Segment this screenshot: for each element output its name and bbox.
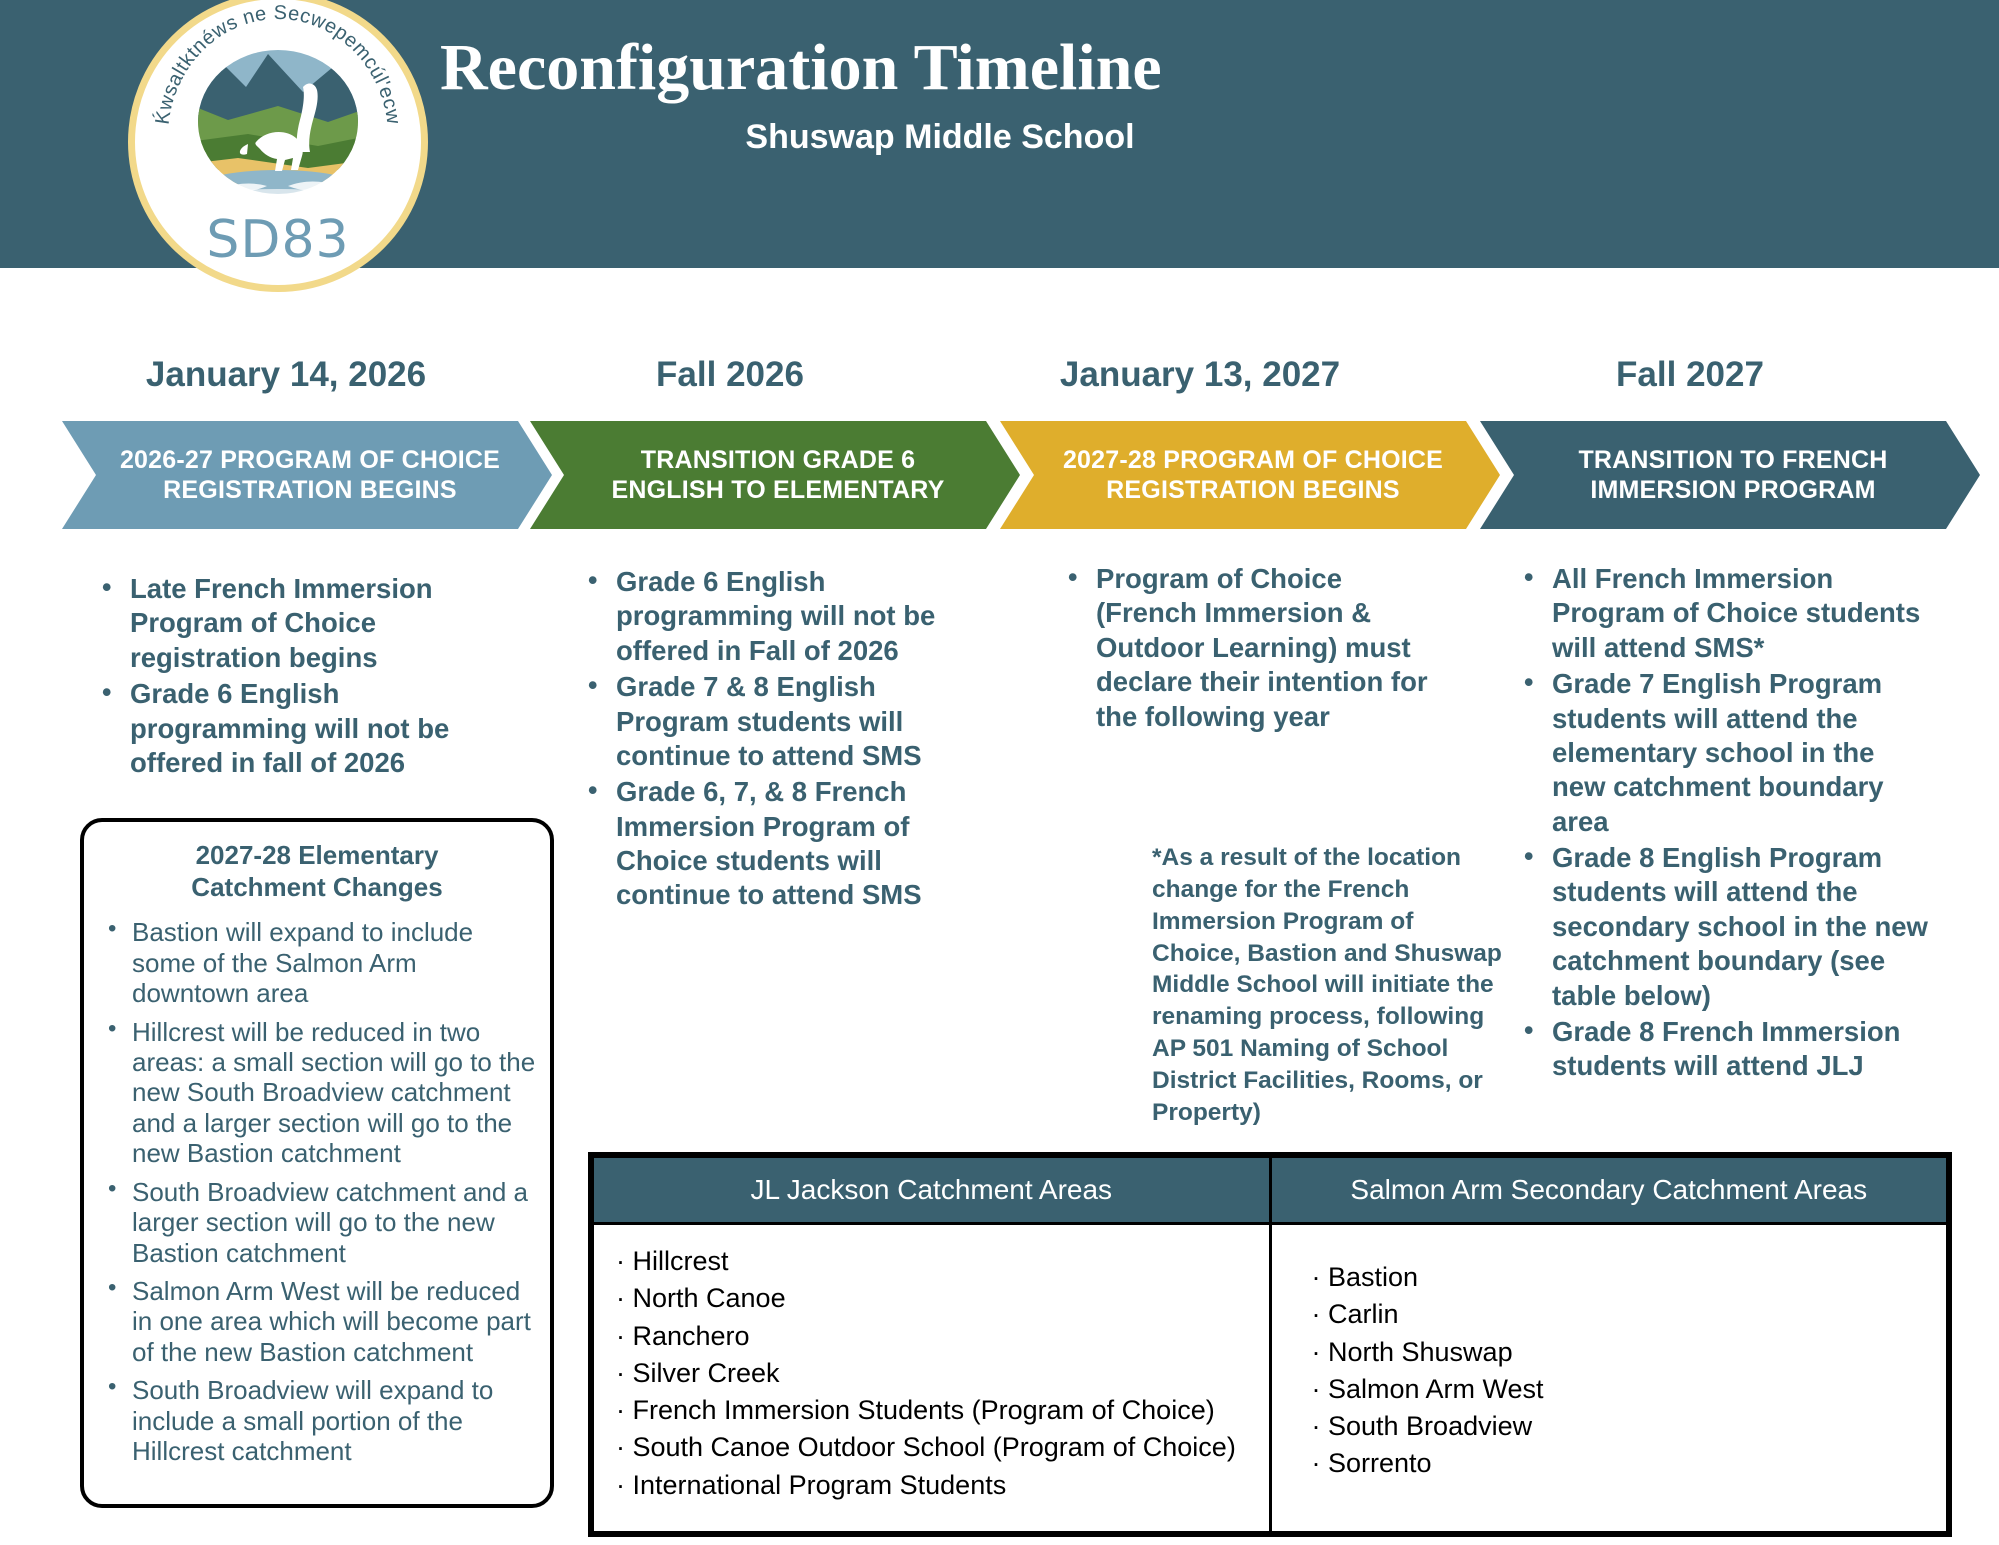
list-item: Bastion will expand to include some of t… bbox=[98, 917, 536, 1008]
list-item: South Broadview will expand to include a… bbox=[98, 1375, 536, 1466]
list-item: · North Canoe bbox=[616, 1280, 1247, 1317]
timeline-banner-1: 2026-27 PROGRAM OF CHOICE REGISTRATION B… bbox=[62, 421, 552, 529]
catchment-changes-box: 2027-28 Elementary Catchment Changes Bas… bbox=[80, 818, 554, 1508]
banner-4-line2: IMMERSION PROGRAM bbox=[1578, 475, 1887, 506]
timeline-date-2: Fall 2026 bbox=[540, 355, 920, 395]
banner-1-line2: REGISTRATION BEGINS bbox=[120, 475, 500, 506]
list-item: Late French Immersion Program of Choice … bbox=[96, 572, 476, 675]
catchment-box-title: 2027-28 Elementary Catchment Changes bbox=[98, 840, 536, 903]
list-item: Grade 7 English Program students will at… bbox=[1518, 667, 1928, 839]
table-cell-salmon-arm: · Bastion · Carlin · North Shuswap · Sal… bbox=[1270, 1224, 1948, 1533]
banner-2-line2: ENGLISH TO ELEMENTARY bbox=[612, 475, 945, 506]
sd83-logo: Ḱwsaltktnéws ne Secwepemcúl'ecw SD83 bbox=[128, 0, 428, 292]
logo-district-code: SD83 bbox=[128, 210, 428, 270]
banner-3-line1: 2027-28 PROGRAM OF CHOICE bbox=[1063, 445, 1443, 476]
catchment-box-title-line1: 2027-28 Elementary bbox=[98, 840, 536, 872]
list-item: · Hillcrest bbox=[616, 1243, 1247, 1280]
banner-3-line2: REGISTRATION BEGINS bbox=[1063, 475, 1443, 506]
catchment-areas-table: JL Jackson Catchment Areas Salmon Arm Se… bbox=[588, 1152, 1952, 1537]
renaming-footnote: *As a result of the location change for … bbox=[1152, 842, 1504, 1129]
list-item: Salmon Arm West will be reduced in one a… bbox=[98, 1276, 536, 1367]
list-item: Grade 6 English programming will not be … bbox=[582, 565, 972, 668]
timeline-date-1: January 14, 2026 bbox=[96, 355, 476, 395]
timeline-date-3: January 13, 2027 bbox=[1000, 355, 1400, 395]
list-item: · International Program Students bbox=[616, 1467, 1247, 1504]
bullet-list-4: All French Immersion Program of Choice s… bbox=[1518, 562, 1928, 1084]
list-item: Grade 7 & 8 English Program students wil… bbox=[582, 670, 972, 773]
list-item: · Salmon Arm West bbox=[1312, 1371, 1925, 1408]
page-subtitle: Shuswap Middle School bbox=[440, 118, 1440, 157]
salmon-arm-area-list: · Bastion · Carlin · North Shuswap · Sal… bbox=[1312, 1259, 1925, 1483]
timeline-banner-4: TRANSITION TO FRENCH IMMERSION PROGRAM bbox=[1480, 421, 1980, 529]
page-header: Ḱwsaltktnéws ne Secwepemcúl'ecw SD83 Rec… bbox=[0, 0, 1999, 268]
timeline-banner-2: TRANSITION GRADE 6 ENGLISH TO ELEMENTARY bbox=[530, 421, 1020, 529]
list-item: All French Immersion Program of Choice s… bbox=[1518, 562, 1928, 665]
list-item: · Carlin bbox=[1312, 1296, 1925, 1333]
infographic-page: Ḱwsaltktnéws ne Secwepemcúl'ecw SD83 Rec… bbox=[0, 0, 1999, 1545]
timeline-column-2: Grade 6 English programming will not be … bbox=[582, 565, 972, 915]
timeline-column-3: Program of Choice (French Immersion & Ou… bbox=[1062, 562, 1442, 736]
list-item: · Sorrento bbox=[1312, 1445, 1925, 1482]
timeline-column-4: All French Immersion Program of Choice s… bbox=[1518, 562, 1928, 1086]
list-item: Grade 8 French Immersion students will a… bbox=[1518, 1015, 1928, 1084]
list-item: · North Shuswap bbox=[1312, 1334, 1925, 1371]
bullet-list-2: Grade 6 English programming will not be … bbox=[582, 565, 972, 913]
list-item: Grade 6 English programming will not be … bbox=[96, 677, 476, 780]
table-header-row: JL Jackson Catchment Areas Salmon Arm Se… bbox=[593, 1157, 1948, 1224]
list-item: · French Immersion Students (Program of … bbox=[616, 1392, 1247, 1429]
catchment-box-title-line2: Catchment Changes bbox=[98, 872, 536, 904]
list-item: · South Broadview bbox=[1312, 1408, 1925, 1445]
timeline-date-row: January 14, 2026 Fall 2026 January 13, 2… bbox=[0, 355, 1999, 405]
page-title: Reconfiguration Timeline bbox=[440, 30, 1840, 106]
jl-jackson-area-list: · Hillcrest · North Canoe · Ranchero · S… bbox=[616, 1243, 1247, 1504]
list-item: · Ranchero bbox=[616, 1318, 1247, 1355]
list-item: Program of Choice (French Immersion & Ou… bbox=[1062, 562, 1442, 734]
timeline-banner-3: 2027-28 PROGRAM OF CHOICE REGISTRATION B… bbox=[1000, 421, 1500, 529]
catchment-change-list: Bastion will expand to include some of t… bbox=[98, 917, 536, 1466]
list-item: · Silver Creek bbox=[616, 1355, 1247, 1392]
bullet-list-3: Program of Choice (French Immersion & Ou… bbox=[1062, 562, 1442, 734]
bullet-list-1: Late French Immersion Program of Choice … bbox=[96, 572, 476, 780]
banner-1-line1: 2026-27 PROGRAM OF CHOICE bbox=[120, 445, 500, 476]
timeline-column-1: Late French Immersion Program of Choice … bbox=[96, 572, 476, 782]
banner-4-line1: TRANSITION TO FRENCH bbox=[1578, 445, 1887, 476]
list-item: South Broadview catchment and a larger s… bbox=[98, 1177, 536, 1268]
table-row: · Hillcrest · North Canoe · Ranchero · S… bbox=[593, 1224, 1948, 1533]
timeline-banner-row: 2026-27 PROGRAM OF CHOICE REGISTRATION B… bbox=[0, 421, 1999, 531]
list-item: Grade 6, 7, & 8 French Immersion Program… bbox=[582, 775, 972, 913]
table-cell-jl-jackson: · Hillcrest · North Canoe · Ranchero · S… bbox=[593, 1224, 1271, 1533]
banner-2-line1: TRANSITION GRADE 6 bbox=[612, 445, 945, 476]
list-item: Hillcrest will be reduced in two areas: … bbox=[98, 1017, 536, 1169]
timeline-date-4: Fall 2027 bbox=[1490, 355, 1890, 395]
list-item: Grade 8 English Program students will at… bbox=[1518, 841, 1928, 1013]
list-item: · South Canoe Outdoor School (Program of… bbox=[616, 1429, 1247, 1466]
table-header-jl-jackson: JL Jackson Catchment Areas bbox=[593, 1157, 1271, 1224]
table-header-salmon-arm: Salmon Arm Secondary Catchment Areas bbox=[1270, 1157, 1948, 1224]
list-item: · Bastion bbox=[1312, 1259, 1925, 1296]
